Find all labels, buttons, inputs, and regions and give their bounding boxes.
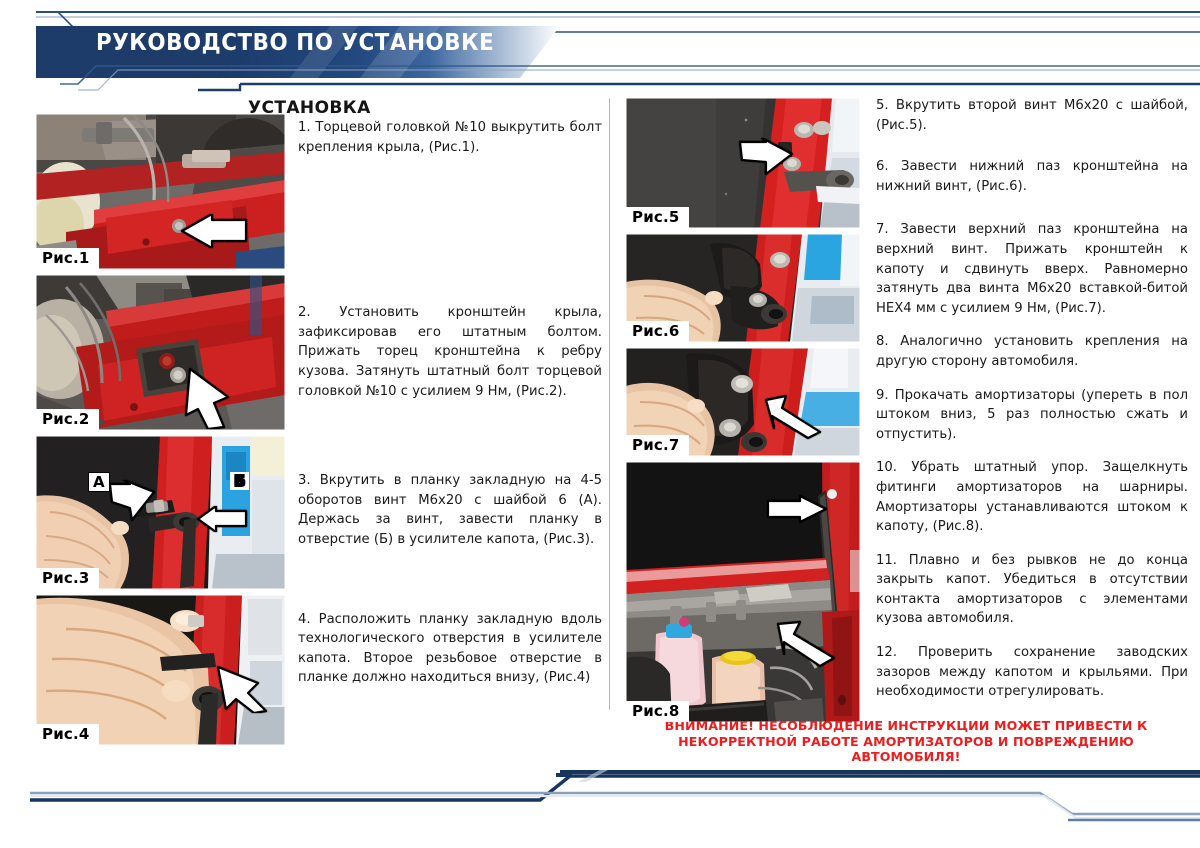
figure-ris-3: А Б Рис.3 bbox=[36, 436, 285, 589]
figure-3-label-b: Б bbox=[230, 472, 249, 490]
left-step-list: 1. Торцевой головкой №10 выкрутить болт … bbox=[298, 114, 602, 688]
figure-ris-7: Рис.7 bbox=[626, 348, 860, 456]
manual-content: УСТАНОВКА bbox=[0, 92, 1200, 717]
pointer-arrow-icon bbox=[764, 394, 822, 440]
pointer-arrow-icon bbox=[766, 494, 828, 524]
figure-caption: Рис.8 bbox=[626, 701, 689, 722]
step-item-3: 3. Вкрутить в планку закладную на 4-5 об… bbox=[298, 471, 602, 549]
right-step-list: 5. Вкрутить второй винт М6х20 с шайбой, … bbox=[876, 96, 1188, 702]
figure-2-photo bbox=[36, 275, 285, 430]
step-item-4: 4. Расположить планку закладную вдоль те… bbox=[298, 610, 602, 688]
step-item-2: 2. Установить кронштейн крыла, зафиксиро… bbox=[298, 303, 602, 401]
right-figure-stack: Рис.5 bbox=[626, 98, 860, 728]
warning-notice: ВНИМАНИЕ! НЕСОБЛЮДЕНИЕ ИНСТРУКЦИИ МОЖЕТ … bbox=[626, 718, 1186, 765]
figure-ris-4: Рис.4 bbox=[36, 595, 285, 745]
warning-line-1: ВНИМАНИЕ! НЕСОБЛЮДЕНИЕ ИНСТРУКЦИИ МОЖЕТ … bbox=[626, 718, 1186, 734]
right-column: Рис.5 bbox=[626, 92, 1188, 717]
step-item-8: 8. Аналогично установить крепления на др… bbox=[876, 332, 1188, 371]
step-item-11: 11. Плавно и без рывков не до конца закр… bbox=[876, 551, 1188, 629]
figure-ris-8: Рис.8 bbox=[626, 462, 860, 722]
pointer-arrow-icon bbox=[108, 480, 156, 522]
column-divider bbox=[609, 98, 610, 710]
page-footer: WWW.RIVALAUTO.COM bbox=[0, 770, 1200, 848]
figure-ris-6: Рис.6 bbox=[626, 234, 860, 342]
step-item-10: 10. Убрать штатный упор. Защелкнуть фити… bbox=[876, 458, 1188, 536]
page-title: РУКОВОДСТВО ПО УСТАНОВКЕ bbox=[96, 30, 494, 56]
left-figure-stack: Рис.1 bbox=[36, 114, 285, 751]
figure-ris-2: Рис.2 bbox=[36, 275, 285, 430]
installation-manual-page: РУКОВОДСТВО ПО УСТАНОВКЕ УСТАНОВКА bbox=[0, 0, 1200, 848]
step-item-6: 6. Завести нижний паз кронштейна на нижн… bbox=[876, 157, 1188, 196]
figure-caption: Рис.3 bbox=[36, 568, 99, 589]
figure-caption: Рис.2 bbox=[36, 409, 99, 430]
figure-caption: Рис.1 bbox=[36, 248, 99, 269]
step-item-7: 7. Завести верхний паз кронштейна на вер… bbox=[876, 220, 1188, 318]
pointer-arrow-icon bbox=[184, 367, 232, 429]
figure-caption: Рис.6 bbox=[626, 321, 689, 342]
figure-caption: Рис.7 bbox=[626, 435, 689, 456]
step-item-1: 1. Торцевой головкой №10 выкрутить болт … bbox=[298, 118, 602, 157]
warning-line-2: НЕКОРРЕКТНОЙ РАБОТЕ АМОРТИЗАТОРОВ И ПОВР… bbox=[626, 734, 1186, 750]
step-item-12: 12. Проверить сохранение заводских зазор… bbox=[876, 643, 1188, 702]
left-column: УСТАНОВКА bbox=[36, 92, 602, 717]
figure-3-label-a: А bbox=[88, 472, 110, 492]
footer-banner-graphic bbox=[0, 770, 1200, 848]
warning-line-3: АВТОМОБИЛЯ! bbox=[626, 749, 1186, 765]
pointer-arrow-icon bbox=[776, 620, 836, 668]
figure-ris-1: Рис.1 bbox=[36, 114, 285, 269]
pointer-arrow-icon bbox=[196, 506, 248, 532]
figure-caption: Рис.4 bbox=[36, 724, 99, 745]
figure-caption: Рис.5 bbox=[626, 207, 689, 228]
step-item-5: 5. Вкрутить второй винт М6х20 с шайбой, … bbox=[876, 96, 1188, 135]
step-item-9: 9. Прокачать амортизаторы (упереть в пол… bbox=[876, 386, 1188, 445]
pointer-arrow-icon bbox=[178, 214, 248, 248]
pointer-arrow-icon bbox=[212, 665, 268, 713]
figure-ris-5: Рис.5 bbox=[626, 98, 860, 228]
pointer-arrow-icon bbox=[738, 138, 794, 176]
page-header: РУКОВОДСТВО ПО УСТАНОВКЕ bbox=[0, 0, 1200, 92]
